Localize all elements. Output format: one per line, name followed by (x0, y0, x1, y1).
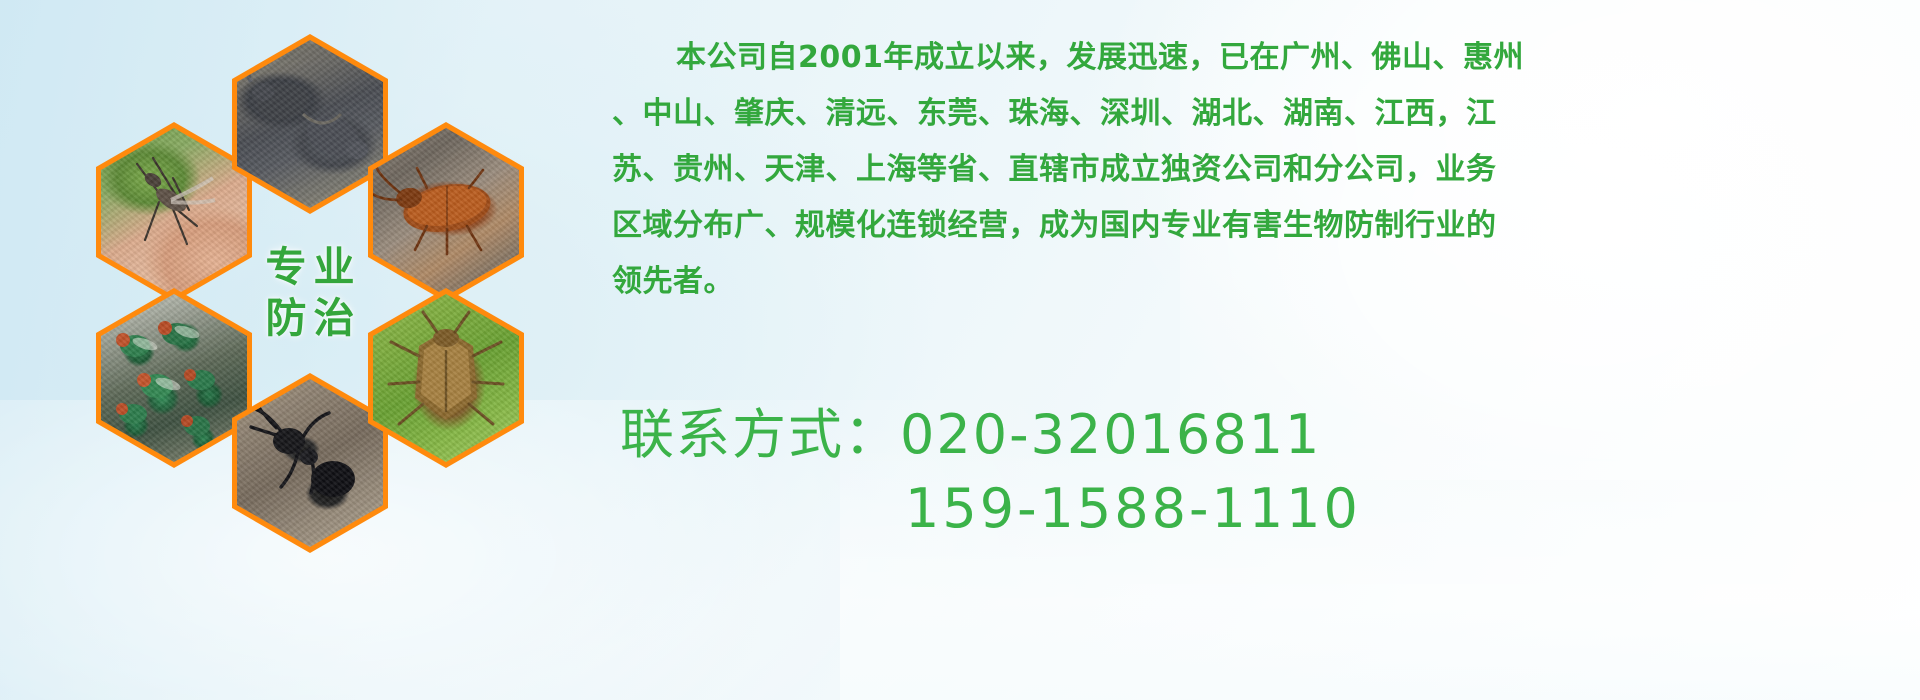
contact-phone-primary[interactable]: 联系方式：020-32016811 (620, 398, 1900, 472)
about-paragraph: 本公司自2001年成立以来，发展迅速，已在广州、佛山、惠州 、中山、肇庆、清远、… (612, 30, 1877, 310)
about-line-5: 领先者。 (612, 254, 1877, 310)
photo-texture (237, 40, 383, 208)
photo-texture (101, 128, 247, 296)
hex-photo-cockroach-image (373, 128, 519, 296)
logo-line-1: 专业 (259, 246, 362, 289)
photo-texture (237, 379, 383, 547)
hex-photo-ant[interactable] (232, 373, 388, 553)
hex-photo-stinkbug[interactable] (368, 288, 524, 468)
hex-photo-flies[interactable] (96, 288, 252, 468)
photo-texture (373, 294, 519, 462)
contact-phone-secondary[interactable]: 159-1588-1110 (620, 472, 1900, 546)
about-line-1: 本公司自2001年成立以来，发展迅速，已在广州、佛山、惠州 (612, 30, 1877, 86)
hex-photo-mosquito-image (101, 128, 247, 296)
hex-photo-flies-image (101, 294, 247, 462)
hexagon-pest-gallery: 专业 防治 (96, 16, 576, 561)
hex-photo-ant-image (237, 379, 383, 547)
company-description-block: 本公司自2001年成立以来，发展迅速，已在广州、佛山、惠州 、中山、肇庆、清远、… (612, 30, 1877, 310)
contact-block: 联系方式：020-32016811 159-1588-1110 (620, 398, 1900, 546)
hex-photo-stinkbug-image (373, 294, 519, 462)
hex-photo-rat-image (237, 40, 383, 208)
promo-banner: 专业 防治 本公司自2001年成立以来，发展迅速，已在广州、佛山、惠州 、中山、… (0, 0, 1920, 700)
photo-texture (373, 128, 519, 296)
photo-texture (101, 294, 247, 462)
logo-text: 专业 防治 (232, 203, 388, 383)
about-line-4: 区域分布广、规模化连锁经营，成为国内专业有害生物防制行业的 (612, 198, 1877, 254)
hex-photo-mosquito[interactable] (96, 122, 252, 302)
about-line-2: 、中山、肇庆、清远、东莞、珠海、深圳、湖北、湖南、江西，江 (612, 86, 1877, 142)
logo-hexagon: 专业 防治 (232, 203, 388, 383)
hex-photo-rat[interactable] (232, 34, 388, 214)
about-line-3: 苏、贵州、天津、上海等省、直辖市成立独资公司和分公司，业务 (612, 142, 1877, 198)
hex-photo-cockroach[interactable] (368, 122, 524, 302)
logo-line-2: 防治 (259, 297, 362, 340)
